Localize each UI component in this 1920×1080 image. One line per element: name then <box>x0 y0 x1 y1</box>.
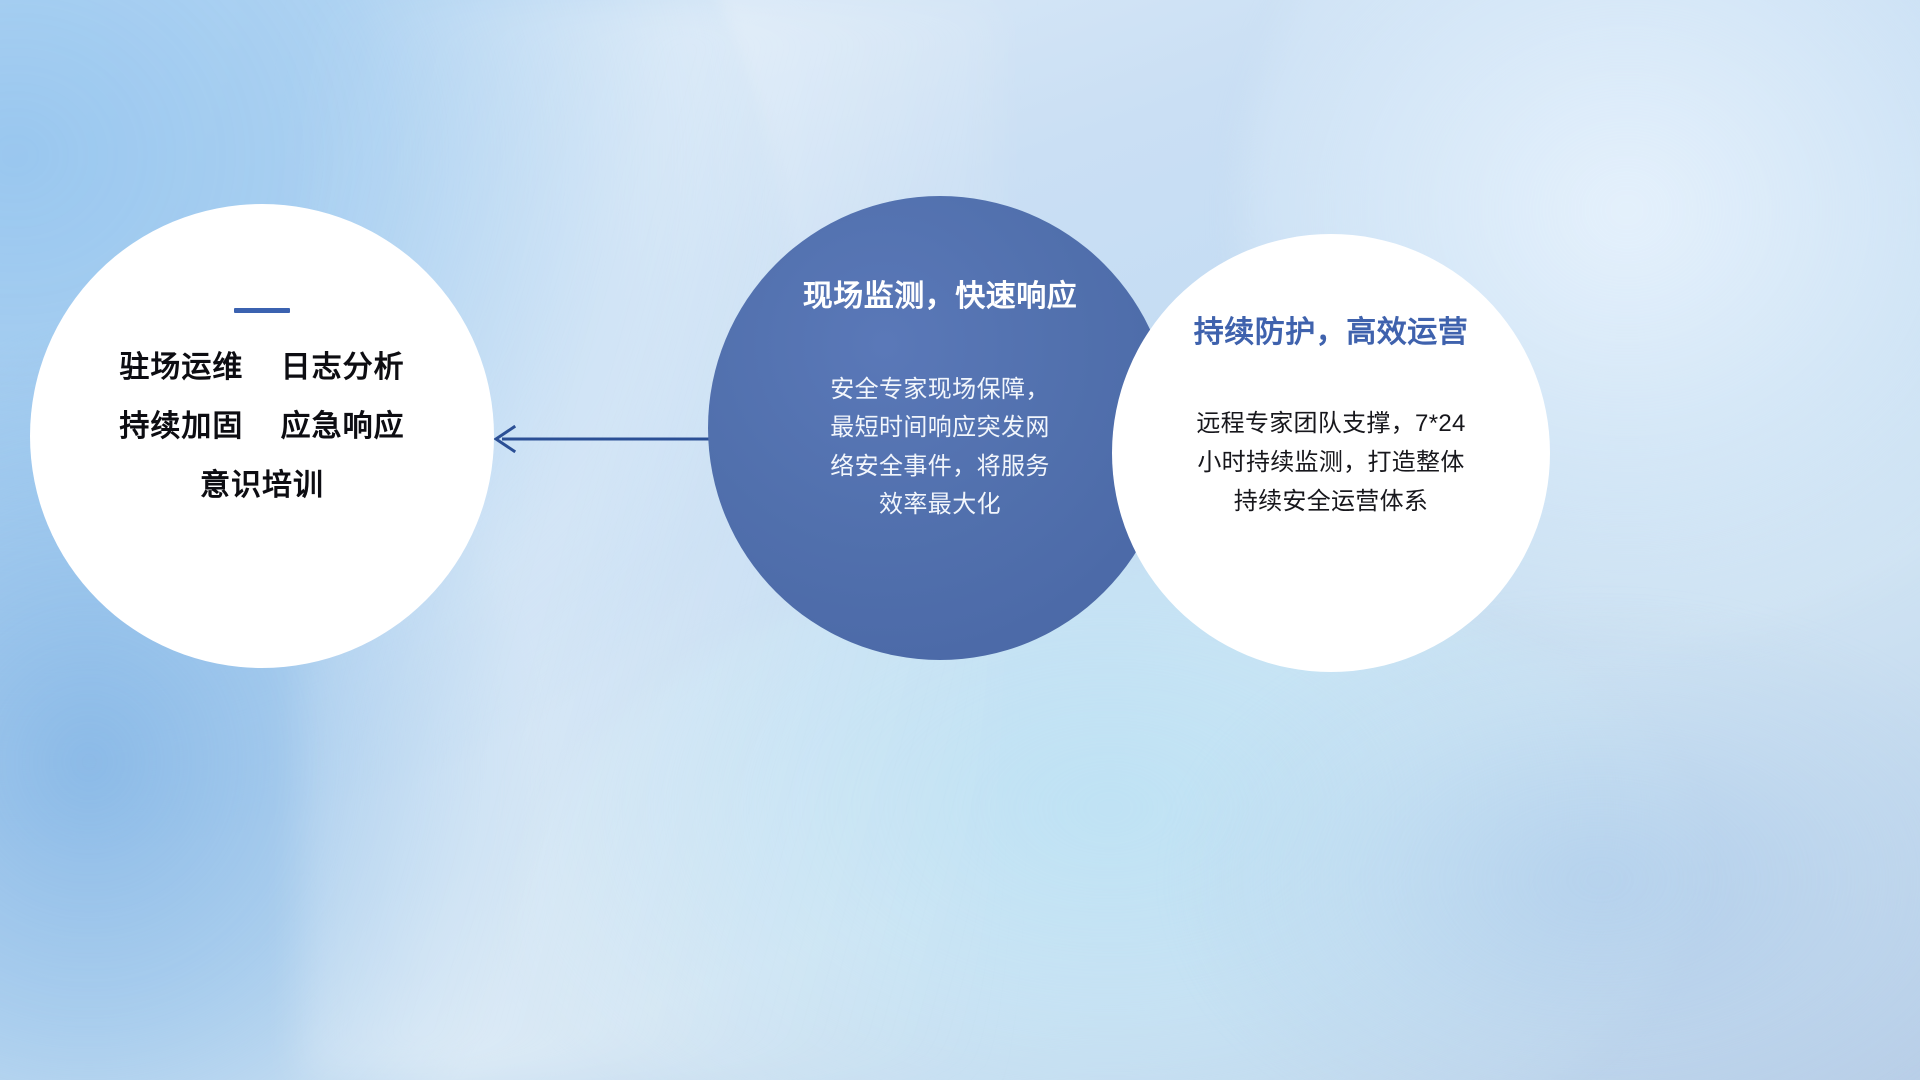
protection-body-line-2: 小时持续监测，打造整体 <box>1146 444 1516 483</box>
capability-line-2: 持续加固 应急响应 <box>119 412 404 442</box>
onsite-body-line-2: 最短时间响应突发网 <box>790 409 1090 447</box>
divider-dash-icon <box>234 308 290 313</box>
continuous-protection-title: 持续防护，高效运营 <box>1194 316 1469 349</box>
protection-body-line-3: 持续安全运营体系 <box>1146 483 1516 522</box>
capability-circle-left[interactable]: 驻场运维 日志分析 持续加固 应急响应 意识培训 <box>30 204 494 668</box>
onsite-monitoring-title: 现场监测，快速响应 <box>803 280 1078 313</box>
arrow-left-icon <box>486 418 716 460</box>
capability-line-3: 意识培训 <box>200 471 324 501</box>
onsite-monitoring-circle[interactable]: 现场监测，快速响应 安全专家现场保障， 最短时间响应突发网 络安全事件，将服务 … <box>708 196 1172 660</box>
continuous-protection-circle[interactable]: 持续防护，高效运营 远程专家团队支撑，7*24 小时持续监测，打造整体 持续安全… <box>1112 234 1550 672</box>
onsite-body-line-3: 络安全事件，将服务 <box>790 448 1090 486</box>
slide-canvas: 驻场运维 日志分析 持续加固 应急响应 意识培训 现场监测，快速响应 安全专家现… <box>0 0 1920 1080</box>
capability-line-1: 驻场运维 日志分析 <box>119 353 404 383</box>
onsite-monitoring-body: 安全专家现场保障， 最短时间响应突发网 络安全事件，将服务 效率最大化 <box>790 371 1090 525</box>
onsite-body-line-4: 效率最大化 <box>790 486 1090 524</box>
onsite-body-line-1: 安全专家现场保障， <box>790 371 1090 409</box>
protection-body-line-1: 远程专家团队支撑，7*24 <box>1146 405 1516 444</box>
continuous-protection-body: 远程专家团队支撑，7*24 小时持续监测，打造整体 持续安全运营体系 <box>1146 405 1516 522</box>
